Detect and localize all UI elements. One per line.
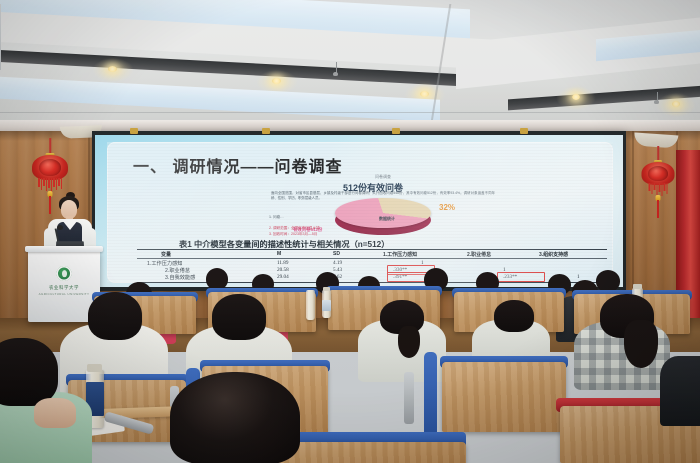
spotlight-glow [92, 58, 134, 82]
table-header-cell: M [277, 251, 281, 257]
lantern-body [648, 166, 668, 181]
podium-top-surface [25, 246, 103, 252]
skylight-strip [0, 76, 440, 122]
table-header-cell: 变量 [161, 251, 171, 258]
screen-mount [130, 128, 138, 134]
table-cell: 3.自我效能感 [165, 274, 195, 281]
seat-back [442, 362, 566, 432]
bottle-cap [87, 364, 102, 372]
person-head [88, 292, 142, 340]
person-hair-long [624, 320, 658, 368]
person-torso [660, 356, 700, 426]
bottle-cap [633, 284, 642, 289]
lecture-hall-photo: 一、 调研情况——问卷调查 问卷调查 512份有效问卷 面向全国范围，对省市区县… [0, 0, 700, 463]
pie-chart-top [335, 198, 431, 228]
water-bottle [306, 290, 315, 320]
bottle-label [322, 300, 331, 311]
person-head [0, 338, 58, 406]
screen-mount [520, 128, 528, 134]
red-chinese-lantern-right [638, 146, 678, 222]
slide-chart-block: 问卷调查 512份有效问卷 面向全国范围，对省市区县基层、乡镇及村级干部进行问卷… [257, 175, 507, 237]
projection-screen-frame: 一、 调研情况——问卷调查 问卷调查 512份有效问卷 面向全国范围，对省市区县… [92, 131, 626, 291]
lantern-tassel [657, 200, 659, 218]
table-cell: 5.43 [333, 267, 342, 273]
person-ponytail [398, 326, 420, 358]
screen-mount [392, 128, 400, 134]
person-hand [34, 398, 76, 428]
pie-red-note-1: 2. 调研范围：全国省市区县乡镇 [269, 226, 320, 231]
microphone-head [57, 225, 63, 230]
table-cell: 11.89 [277, 260, 288, 266]
pie-red-note-2: 3. 回收时间：2023年3月—5月 [269, 232, 317, 237]
person-head [206, 268, 228, 290]
lantern-body [39, 159, 61, 176]
table-rule-top [137, 249, 607, 250]
table-cell: 4.19 [333, 260, 342, 266]
ceiling-seam [0, 112, 700, 113]
bottle-cap [323, 287, 330, 291]
pie-percent-label: 32% [439, 203, 455, 212]
ceiling-sprinkler [654, 100, 659, 104]
table-header-cell: 2.职业倦怠 [467, 251, 491, 258]
lantern-fringe [38, 178, 62, 192]
table-header-cell: SD [333, 251, 340, 257]
person-head [494, 300, 534, 332]
podium-side-panel [0, 4, 1, 70]
spotlight-glow [656, 93, 696, 117]
table-cell: 20.58 [277, 267, 289, 273]
person-head [170, 372, 300, 463]
table-cell: 29.04 [277, 274, 289, 280]
table-header-cell: 3.组织支持感 [539, 251, 568, 258]
spotlight-glow [556, 86, 596, 110]
person-head [212, 294, 266, 340]
pie-inline-label: 数据统计 [379, 216, 395, 222]
pie-legend-a: 1. 问卷… [269, 215, 284, 220]
table-cell: 1.工作压力感知 [147, 260, 182, 267]
podium-org-name: 农业科学大学 [28, 285, 100, 291]
table-header-cell: 1.工作压力感知 [383, 251, 417, 258]
table-cell: 1 [577, 274, 580, 280]
podium-org-subname: AGRICULTURAL UNIVERSITY [28, 292, 100, 296]
lantern-tassel [49, 196, 51, 214]
ceiling [0, 0, 700, 132]
slide-title: 一、 调研情况——问卷调查 [133, 153, 342, 177]
table-cell: 2.职业倦怠 [165, 267, 190, 274]
chart-mini-title: 问卷调查 [375, 174, 391, 180]
person-head [596, 270, 620, 292]
university-emblem-icon [57, 266, 72, 281]
seat-armrest [404, 372, 414, 424]
ceiling-sprinkler [333, 72, 338, 76]
projection-screen: 一、 调研情况——问卷调查 问卷调查 512份有效问卷 面向全国范围，对省市区县… [95, 135, 623, 287]
slide-surface: 一、 调研情况——问卷调查 问卷调查 512份有效问卷 面向全国范围，对省市区县… [107, 142, 613, 283]
screen-mount [262, 128, 270, 134]
table-rule-mid [137, 258, 607, 259]
highlight-box [497, 272, 545, 282]
